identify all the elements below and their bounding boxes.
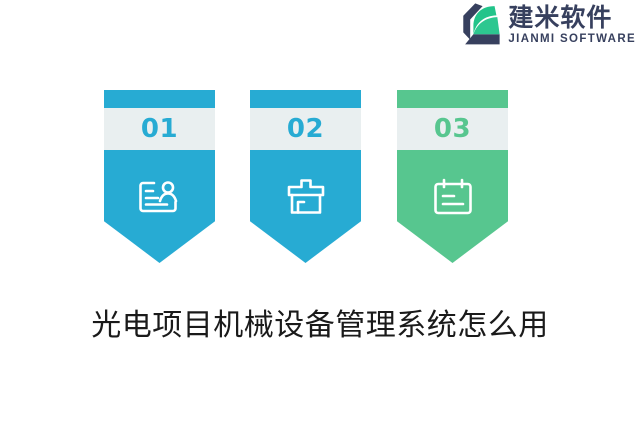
badge-03-body — [397, 150, 508, 263]
badge-row: 01 — [0, 90, 640, 270]
badge-02[interactable]: 02 — [250, 90, 361, 263]
jianmi-leaf-logo-icon — [455, 2, 501, 48]
banner-page: 建米软件 JIANMI SOFTWARE 01 — [0, 0, 640, 427]
brand-name-en: JIANMI SOFTWARE — [508, 34, 636, 46]
badge-03[interactable]: 03 — [397, 90, 508, 263]
badge-02-number-band: 02 — [250, 108, 361, 150]
badge-02-top-strip — [250, 90, 361, 108]
page-title: 光电项目机械设备管理系统怎么用 — [0, 300, 640, 344]
badge-01-number: 01 — [141, 116, 178, 142]
badge-03-number-band: 03 — [397, 108, 508, 150]
badge-01-number-band: 01 — [104, 108, 215, 150]
storefront-icon — [283, 176, 329, 218]
badge-01-top-strip — [104, 90, 215, 108]
brand-logo: 建米软件 JIANMI SOFTWARE — [455, 2, 636, 48]
badge-01-body — [104, 150, 215, 263]
badge-03-number: 03 — [434, 116, 471, 142]
contact-card-icon — [137, 176, 183, 218]
badge-01[interactable]: 01 — [104, 90, 215, 263]
brand-text: 建米软件 JIANMI SOFTWARE — [508, 5, 636, 46]
brand-name-cn: 建米软件 — [508, 5, 636, 31]
badge-02-body — [250, 150, 361, 263]
badge-02-number: 02 — [287, 116, 324, 142]
calendar-note-icon — [430, 176, 476, 218]
badge-03-top-strip — [397, 90, 508, 108]
